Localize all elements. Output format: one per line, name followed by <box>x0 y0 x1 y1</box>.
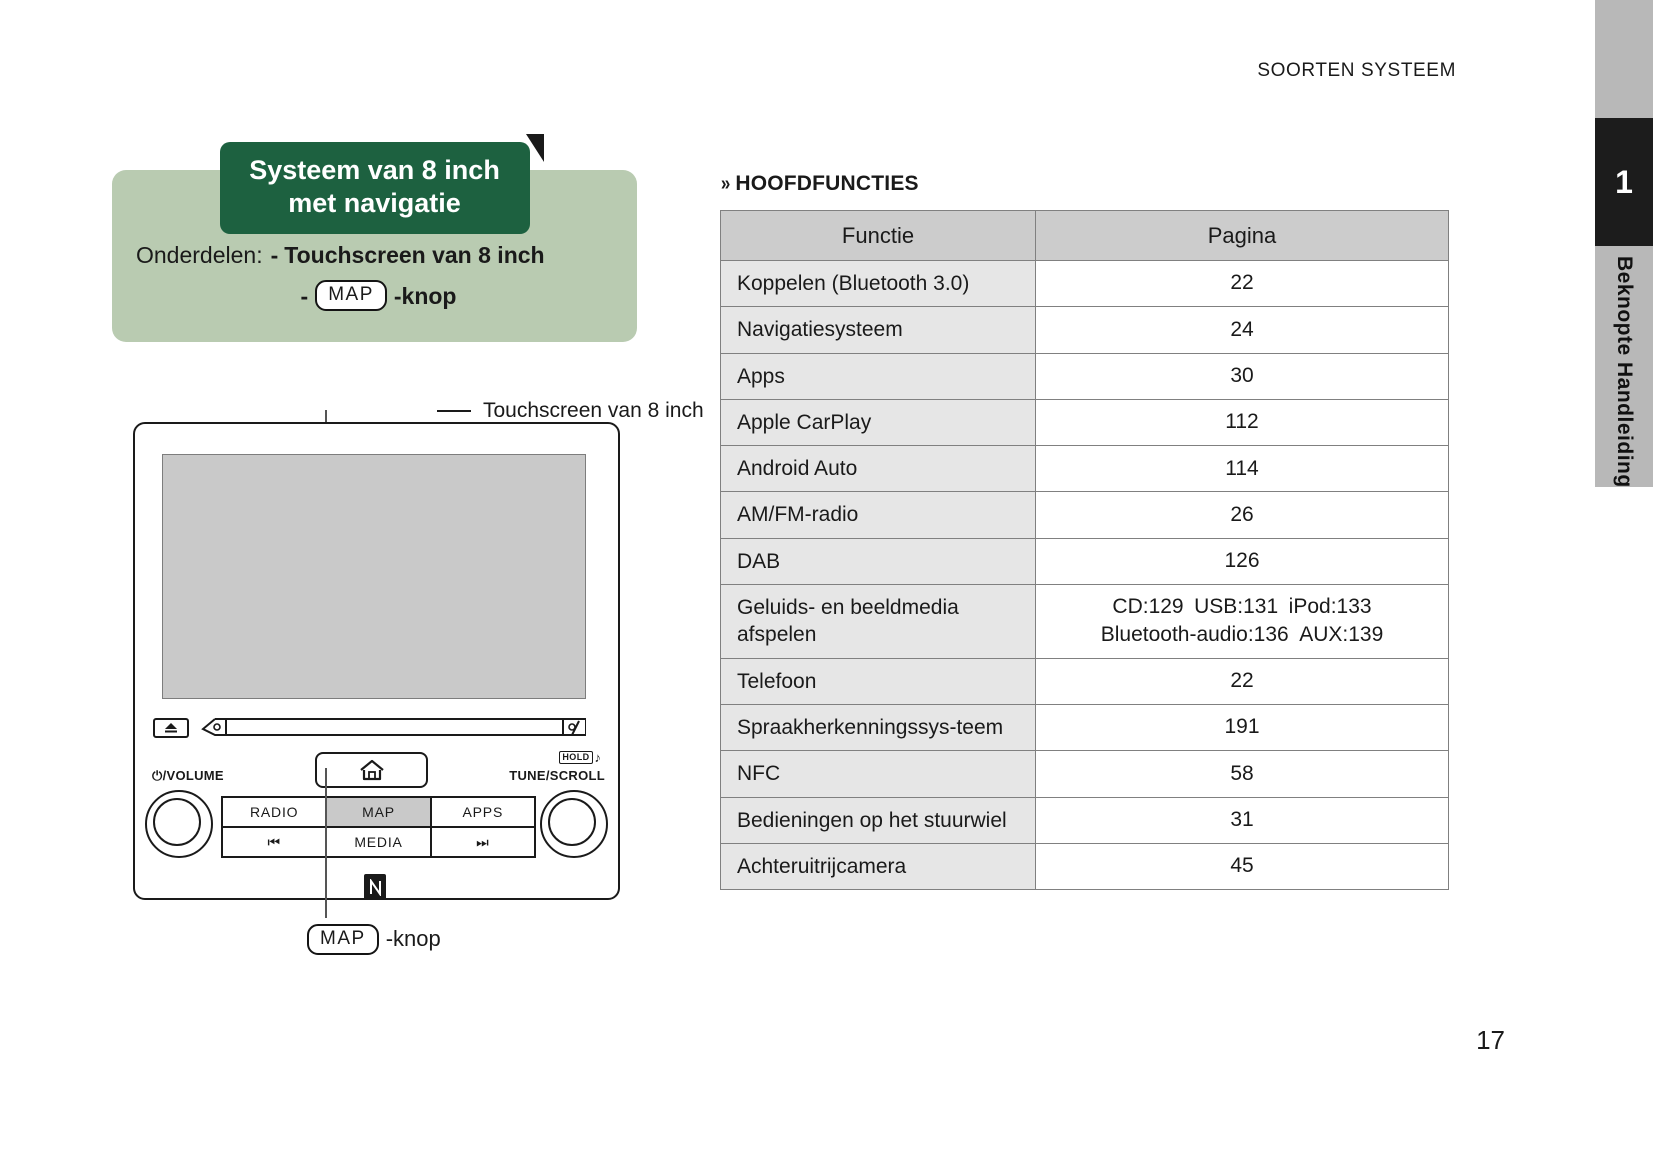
table-row: Telefoon22 <box>721 658 1449 704</box>
page-reference-cell: 58 <box>1036 751 1449 797</box>
page-reference-cell: 126 <box>1036 538 1449 584</box>
table-header-row: Functie Pagina <box>721 211 1449 261</box>
previous-track-icon[interactable]: ⏮ <box>223 828 327 856</box>
banner-line-2: met navigatie <box>230 187 520 220</box>
button-bank: RADIO MAP APPS ⏮ MEDIA ⏭ <box>221 796 536 860</box>
page-reference-cell: 22 <box>1036 261 1449 307</box>
table-row: Apple CarPlay112 <box>721 399 1449 445</box>
table-row: Android Auto114 <box>721 446 1449 492</box>
volume-knob[interactable] <box>145 790 213 858</box>
callout-leader-line <box>437 410 471 412</box>
eject-icon[interactable] <box>153 718 189 738</box>
callout-touchscreen: Touchscreen van 8 inch <box>437 399 704 423</box>
page-reference-cell: 30 <box>1036 353 1449 399</box>
apps-button[interactable]: APPS <box>432 798 534 826</box>
tune-scroll-knob[interactable] <box>540 790 608 858</box>
double-chevron-icon: » <box>721 173 731 196</box>
page-reference-cell: 112 <box>1036 399 1449 445</box>
page-reference-cell: 191 <box>1036 704 1449 750</box>
callout-touchscreen-label: Touchscreen van 8 inch <box>483 399 704 423</box>
callout-map-pointer <box>325 768 327 918</box>
page-reference-cell: CD:129 USB:131 iPod:133Bluetooth-audio:1… <box>1036 585 1449 659</box>
table-row: AM/FM-radio26 <box>721 492 1449 538</box>
hold-indicator: HOLD ♪ <box>559 750 601 765</box>
function-name-cell: Spraakherkenningssys-teem <box>721 704 1036 750</box>
table-row: Apps30 <box>721 353 1449 399</box>
callout-map-suffix: -knop <box>386 926 441 952</box>
function-name-cell: Koppelen (Bluetooth 3.0) <box>721 261 1036 307</box>
left-column: Systeem van 8 inch met navigatie Onderde… <box>112 170 652 964</box>
map-button[interactable]: MAP <box>327 798 431 826</box>
function-name-cell: Navigatiesysteem <box>721 307 1036 353</box>
section-heading-label: HOOFDFUNCTIES <box>735 172 918 196</box>
table-row: Spraakherkenningssys-teem191 <box>721 704 1449 750</box>
table-row: DAB126 <box>721 538 1449 584</box>
function-name-cell: Android Auto <box>721 446 1036 492</box>
function-name-cell: NFC <box>721 751 1036 797</box>
parts-label: Onderdelen: <box>136 238 263 273</box>
parts-item-1-prefix: - <box>271 238 279 273</box>
tune-scroll-knob-label: TUNE/SCROLL <box>509 768 605 783</box>
parts-item-2-suffix: -knop <box>394 279 457 314</box>
page-reference-cell: 31 <box>1036 797 1449 843</box>
table-body: Koppelen (Bluetooth 3.0)22Navigatiesyste… <box>721 261 1449 890</box>
function-name-cell: Apple CarPlay <box>721 399 1036 445</box>
column-header-function: Functie <box>721 211 1036 261</box>
page-reference-cell: 45 <box>1036 843 1449 889</box>
parts-item-1: Touchscreen van 8 inch <box>284 238 544 273</box>
parts-line-2: - MAP -knop <box>136 279 621 314</box>
page-number: 17 <box>1476 1025 1505 1056</box>
system-info-card: Systeem van 8 inch met navigatie Onderde… <box>112 170 637 342</box>
running-header: SOORTEN SYSTEEM <box>1257 60 1456 82</box>
column-header-page: Pagina <box>1036 211 1449 261</box>
hold-label: HOLD <box>559 751 592 765</box>
chapter-number: 1 <box>1615 164 1633 201</box>
right-column: » HOOFDFUNCTIES Functie Pagina Koppelen … <box>720 172 1448 890</box>
function-name-cell: Achteruitrijcamera <box>721 843 1036 889</box>
parts-block: Onderdelen: - Touchscreen van 8 inch - M… <box>112 224 637 313</box>
cd-slot <box>201 718 586 739</box>
function-name-cell: Bedieningen op het stuurwiel <box>721 797 1036 843</box>
function-name-cell: Geluids- en beeldmedia afspelen <box>721 585 1036 659</box>
nfc-icon <box>364 874 386 900</box>
function-name-cell: AM/FM-radio <box>721 492 1036 538</box>
volume-knob-label: ⏻/VOLUME <box>152 768 224 784</box>
function-name-cell: Apps <box>721 353 1036 399</box>
table-row: Achteruitrijcamera45 <box>721 843 1449 889</box>
main-functions-table: Functie Pagina Koppelen (Bluetooth 3.0)2… <box>720 210 1449 890</box>
chapter-number-badge: 1 <box>1595 118 1653 246</box>
system-banner: Systeem van 8 inch met navigatie <box>220 142 530 234</box>
map-button-chip: MAP <box>315 280 387 311</box>
banner-line-1: Systeem van 8 inch <box>230 154 520 187</box>
page-reference-cell: 26 <box>1036 492 1449 538</box>
table-row: NFC58 <box>721 751 1449 797</box>
callout-map-button: MAP -knop <box>300 924 441 955</box>
map-button-chip-caption: MAP <box>307 924 379 955</box>
page-reference-cell: 114 <box>1036 446 1449 492</box>
button-row-bottom: ⏮ MEDIA ⏭ <box>221 827 536 858</box>
parts-item-2-prefix: - <box>301 279 309 314</box>
table-row: Geluids- en beeldmedia afspelenCD:129 US… <box>721 585 1449 659</box>
next-track-icon[interactable]: ⏭ <box>432 828 534 856</box>
button-row-top: RADIO MAP APPS <box>221 796 536 827</box>
parts-line-1: Onderdelen: - Touchscreen van 8 inch <box>136 238 621 273</box>
chapter-label-text: Beknopte Handleiding <box>1612 256 1636 488</box>
home-icon[interactable] <box>315 752 428 788</box>
head-unit-body: ⏻/VOLUME HOLD ♪ TUNE/SCROLL RADIO MAP AP… <box>133 422 620 900</box>
page-reference-cell: 22 <box>1036 658 1449 704</box>
system-banner-box: Systeem van 8 inch met navigatie <box>220 142 530 234</box>
radio-button[interactable]: RADIO <box>223 798 327 826</box>
function-name-cell: DAB <box>721 538 1036 584</box>
function-name-cell: Telefoon <box>721 658 1036 704</box>
chapter-label: Beknopte Handleiding <box>1595 246 1653 487</box>
table-row: Koppelen (Bluetooth 3.0)22 <box>721 261 1449 307</box>
media-button[interactable]: MEDIA <box>327 828 431 856</box>
music-note-icon: ♪ <box>595 750 602 765</box>
section-heading: » HOOFDFUNCTIES <box>720 172 1448 196</box>
page-reference-cell: 24 <box>1036 307 1449 353</box>
head-unit-diagram: Touchscreen van 8 inch <box>112 374 652 964</box>
table-row: Bedieningen op het stuurwiel31 <box>721 797 1449 843</box>
touchscreen-display[interactable] <box>162 454 586 699</box>
table-row: Navigatiesysteem24 <box>721 307 1449 353</box>
